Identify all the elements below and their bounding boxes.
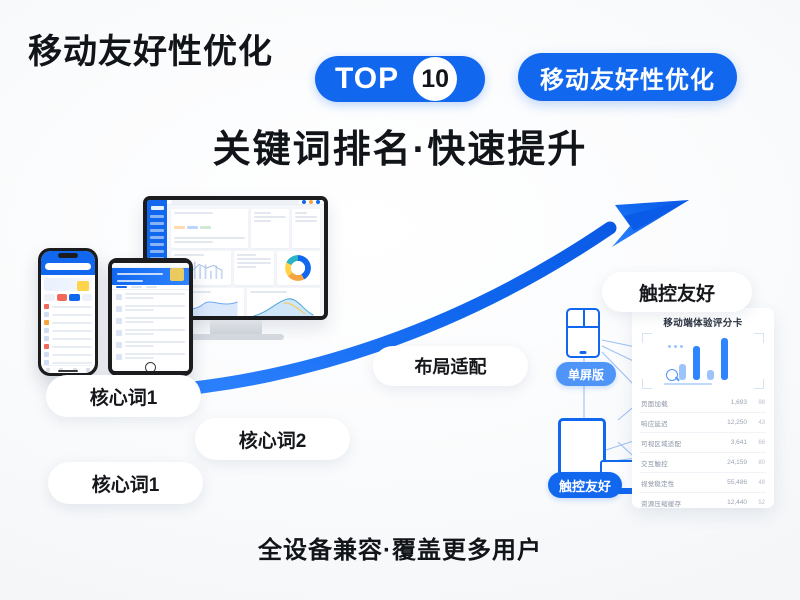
- hero-bars: [640, 338, 766, 380]
- table-row: 可视区域适配 3,641 66: [640, 433, 766, 453]
- top-badge-number: 10: [413, 57, 457, 101]
- touch-friendly-chip: 触控友好: [548, 472, 622, 498]
- tablet-mockup: [108, 258, 193, 376]
- donut-chart: [285, 255, 311, 281]
- table-row: 视觉稳定性 55,486 48: [640, 473, 766, 493]
- phone-notch: [58, 253, 78, 258]
- layout-adapt-label: 布局适配: [373, 346, 528, 386]
- phone-search-bar: [45, 263, 91, 270]
- phone-app-header: [41, 251, 95, 275]
- poster-canvas: 移动友好性优化 TOP 10 移动友好性优化 关键词排名·快速提升: [0, 0, 800, 600]
- footer-tagline: 全设备兼容·覆盖更多用户: [0, 530, 800, 565]
- score-card-table: 页面加载 1,693 98 响应延迟 12,250 43 可视区域适配 3,64…: [640, 393, 766, 508]
- keyword-pill-1: 核心词1: [46, 375, 201, 417]
- monitor-foot: [188, 334, 284, 340]
- table-row: 资源压缩缓存 12,440 52: [640, 493, 766, 508]
- header-tag-pill: 移动友好性优化: [518, 53, 737, 101]
- table-row: 响应延迟 12,250 43: [640, 413, 766, 433]
- page-subtitle: 关键词排名·快速提升: [0, 118, 800, 173]
- device-mockup-group: [30, 196, 320, 396]
- table-row: 交互触控 24,159 80: [640, 453, 766, 473]
- keyword-pill-2: 核心词2: [195, 418, 350, 460]
- donut-chart-card: [277, 251, 320, 285]
- touch-friendly-label: 触控友好: [602, 272, 752, 312]
- mini-phone-split-icon: [566, 308, 600, 358]
- single-screen-chip: 单屏版: [556, 362, 616, 386]
- top-rank-badge: TOP 10: [315, 56, 485, 102]
- score-card-title: 移动端体验评分卡: [640, 315, 766, 329]
- keyword-pill-3: 核心词1: [48, 462, 203, 504]
- responsive-diagram: 单屏版 触控友好 移动端体验评分卡: [548, 300, 778, 515]
- table-row: 页面加载 1,693 98: [640, 393, 766, 413]
- tablet-list: [112, 290, 189, 364]
- mobile-score-card: 移动端体验评分卡 页面加载 1,693 98: [632, 308, 774, 508]
- phone-promo-card: [44, 278, 92, 292]
- phone-home-indicator: [58, 370, 78, 372]
- page-title: 移动友好性优化: [28, 24, 273, 73]
- area-chart-2: [250, 295, 317, 316]
- tablet-banner: [112, 268, 189, 285]
- top-badge-word: TOP: [315, 64, 413, 94]
- phone-mockup: [38, 248, 98, 376]
- phone-result-list: [41, 304, 95, 365]
- score-card-hero-chart: [640, 333, 766, 389]
